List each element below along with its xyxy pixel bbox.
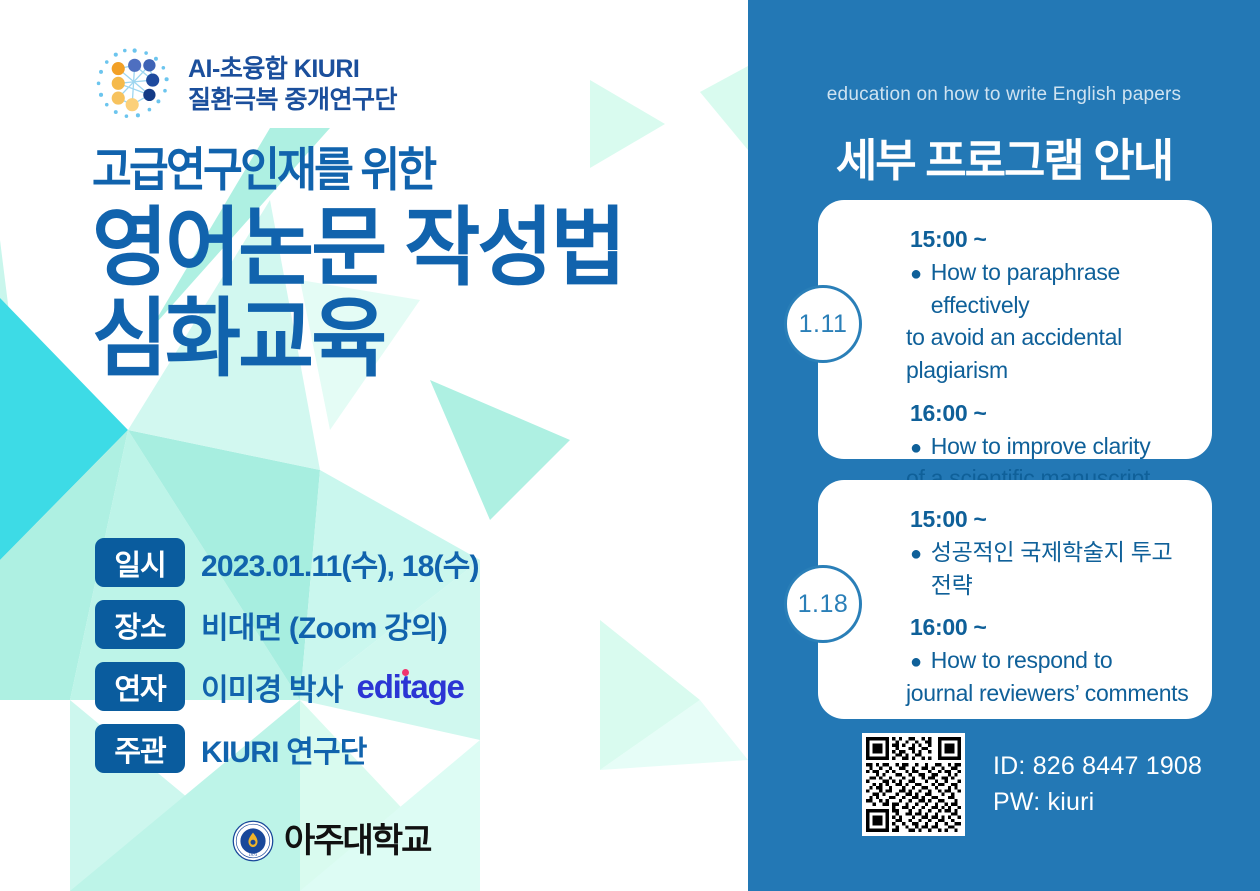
session-topic-line1: How to paraphrase effectively: [931, 256, 1196, 321]
info-value-host: KIURI 연구단: [201, 727, 367, 771]
program-subtitle: education on how to write English papers: [748, 84, 1260, 106]
svg-text:1973: 1973: [249, 853, 257, 857]
kiuri-logo-line1: AI-초융합 KIURI: [188, 55, 397, 85]
info-row-date: 일시 2023.01.11(수), 18(수): [95, 538, 479, 587]
info-tag-host: 주관: [95, 724, 185, 773]
program-card-body: 15:00 ~ ● 성공적인 국제학술지 투고 전략 16:00 ~ ● How…: [910, 506, 1196, 710]
session-topic: ● How to improve clarity: [910, 430, 1196, 463]
session-topic: ● How to respond to: [910, 644, 1196, 677]
date-badge: 1.11: [784, 285, 862, 363]
bullet-icon: ●: [910, 438, 922, 458]
zoom-meeting-id: ID: 826 8447 1908: [993, 749, 1202, 785]
ajou-university-logo: 1973 아주대학교: [232, 820, 430, 862]
info-value-speaker: 이미경 박사 editage: [201, 665, 464, 709]
qr-code-icon[interactable]: [862, 733, 965, 836]
program-title: 세부 프로그램 안내: [748, 124, 1260, 189]
kiuri-logo: AI-초융합 KIURI 질환극복 중개연구단: [92, 44, 397, 126]
info-value-date: 2023.01.11(수), 18(수): [201, 541, 479, 585]
session-topic-line1: 성공적인 국제학술지 투고 전략: [931, 536, 1196, 601]
info-tag-date: 일시: [95, 538, 185, 587]
ajou-university-seal-icon: 1973: [232, 820, 274, 862]
bullet-icon: ●: [910, 264, 922, 284]
bullet-icon: ●: [910, 652, 922, 672]
editage-brand-logo: editage: [357, 670, 464, 703]
headline-main: 영어논문 작성법 심화교육: [92, 203, 732, 385]
session-time: 15:00 ~: [910, 226, 1196, 253]
session-topic: ● How to paraphrase effectively: [910, 256, 1196, 321]
info-row-speaker: 연자 이미경 박사 editage: [95, 662, 479, 711]
headline-line-2: 심화교육: [92, 294, 706, 385]
zoom-credentials: ID: 826 8447 1908 PW: kiuri: [993, 749, 1202, 820]
program-card-body: 15:00 ~ ● How to paraphrase effectively …: [910, 226, 1196, 495]
session-topic: ● 성공적인 국제학술지 투고 전략: [910, 536, 1196, 601]
program-card: 15:00 ~ ● 성공적인 국제학술지 투고 전략 16:00 ~ ● How…: [818, 480, 1212, 719]
network-nodes-icon: [92, 44, 174, 126]
headline-block: 고급연구인재를 위한 영어논문 작성법 심화교육: [92, 146, 732, 385]
session-time: 15:00 ~: [910, 506, 1196, 533]
info-tag-speaker: 연자: [95, 662, 185, 711]
headline-kicker: 고급연구인재를 위한: [92, 146, 681, 193]
session-time: 16:00 ~: [910, 400, 1196, 427]
ajou-university-name: 아주대학교: [284, 824, 430, 858]
session-topic-line2: journal reviewers’ comments: [906, 677, 1196, 710]
poster-canvas: AI-초융합 KIURI 질환극복 중개연구단 고급연구인재를 위한 영어논문 …: [0, 0, 1260, 891]
spacer: [910, 601, 1196, 614]
editage-wordmark: editage: [357, 668, 464, 705]
info-value-host-text: KIURI 연구단: [201, 727, 367, 771]
event-info-list: 일시 2023.01.11(수), 18(수) 장소 비대면 (Zoom 강의)…: [95, 538, 479, 773]
left-panel: AI-초융합 KIURI 질환극복 중개연구단 고급연구인재를 위한 영어논문 …: [0, 0, 748, 891]
session-topic-line1: How to respond to: [931, 644, 1113, 677]
date-badge: 1.18: [784, 565, 862, 643]
zoom-password: PW: kiuri: [993, 785, 1202, 821]
spacer: [910, 387, 1196, 400]
info-value-place-text: 비대면 (Zoom 강의): [201, 603, 447, 647]
session-topic-line1: How to improve clarity: [931, 430, 1151, 463]
zoom-access-info: ID: 826 8447 1908 PW: kiuri: [862, 733, 1202, 836]
info-row-host: 주관 KIURI 연구단: [95, 724, 479, 773]
kiuri-logo-text: AI-초융합 KIURI 질환극복 중개연구단: [188, 55, 397, 116]
session-time: 16:00 ~: [910, 614, 1196, 641]
info-tag-place: 장소: [95, 600, 185, 649]
editage-dot-icon: [402, 669, 409, 676]
session-topic-line2: to avoid an accidental plagiarism: [906, 321, 1196, 386]
info-value-speaker-text: 이미경 박사: [201, 665, 343, 709]
headline-line-1: 영어논문 작성법: [92, 203, 706, 294]
kiuri-logo-line2: 질환극복 중개연구단: [188, 86, 397, 116]
bullet-icon: ●: [910, 544, 922, 564]
program-card: 15:00 ~ ● How to paraphrase effectively …: [818, 200, 1212, 459]
info-value-date-text: 2023.01.11(수), 18(수): [201, 541, 479, 585]
right-panel: education on how to write English papers…: [748, 0, 1260, 891]
info-row-place: 장소 비대면 (Zoom 강의): [95, 600, 479, 649]
info-value-place: 비대면 (Zoom 강의): [201, 603, 447, 647]
